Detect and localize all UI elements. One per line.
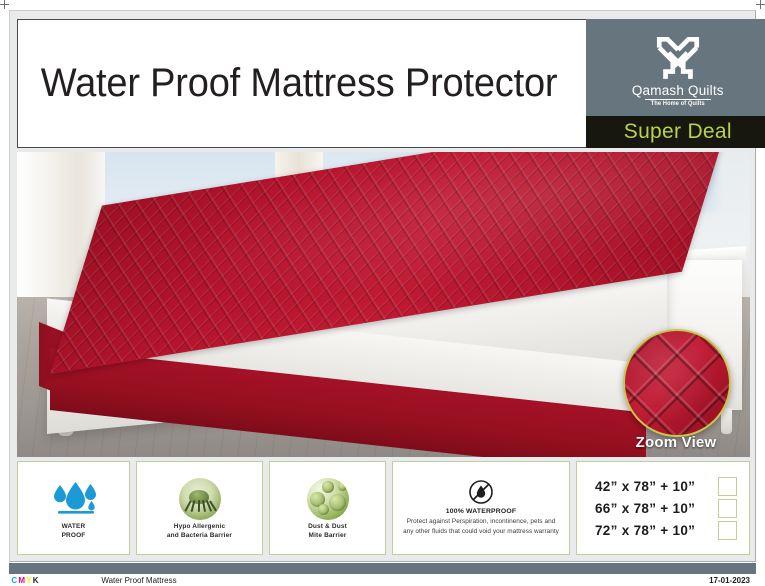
artwork-card: Water Proof Mattress Protector: [9, 10, 756, 562]
feature-label: Hypo Allergenic and Bacteria Barrier: [167, 522, 232, 541]
feature-label-line: PROOF: [62, 531, 86, 540]
feature-label-line: WATER: [62, 522, 86, 531]
size-option-checkbox[interactable]: [718, 499, 737, 518]
feature-strip: WATER PROOF: [17, 461, 750, 555]
size-option-row[interactable]: 42” x 78” + 10”: [589, 477, 737, 496]
brand-panel: Qamash Quilts The Home of Quilts Super D…: [586, 19, 765, 148]
size-option-label: 72” x 78” + 10”: [589, 523, 707, 538]
super-deal-banner: Super Deal: [586, 116, 765, 148]
artboard: Water Proof Mattress Protector: [0, 0, 765, 586]
no-water-drop-icon: [468, 479, 494, 505]
crop-mark-right-top: [756, 4, 765, 5]
zoom-quilt-pattern: [623, 329, 731, 437]
zoom-view-label: Zoom View: [623, 434, 729, 451]
footer-info-row: C M Y K Water Proof Mattress 17-01-2023: [9, 575, 756, 586]
title-panel: Water Proof Mattress Protector: [17, 19, 586, 148]
dust-spores-icon: [307, 476, 349, 522]
feature-dust-mite-barrier: Dust & Dust Mite Barrier: [269, 461, 386, 555]
size-option-label: 66” x 78” + 10”: [589, 501, 707, 516]
feature-label-line: and Bacteria Barrier: [167, 531, 232, 540]
feature-label-line: Dust & Dust: [308, 522, 347, 531]
hero-product-photo: Zoom View: [17, 152, 750, 457]
footer-date: 17-01-2023: [709, 576, 750, 585]
feature-water-proof: WATER PROOF: [17, 461, 130, 555]
super-deal-label: Super Deal: [624, 120, 732, 144]
footer: C M Y K Water Proof Mattress 17-01-2023: [0, 563, 765, 586]
size-option-row[interactable]: 72” x 78” + 10”: [589, 521, 737, 540]
feature-label: WATER PROOF: [62, 522, 86, 541]
cmyk-mark-m: M: [18, 576, 26, 585]
feature-hypo-allergenic: Hypo Allergenic and Bacteria Barrier: [136, 461, 263, 555]
feature-label-line: Mite Barrier: [308, 531, 347, 540]
footer-job-title: Water Proof Mattress: [101, 576, 176, 585]
feature-label: Dust & Dust Mite Barrier: [308, 522, 347, 541]
cmyk-color-marks: C M Y K: [11, 576, 39, 585]
waterproof-heading: 100% WATERPROOF: [446, 508, 516, 515]
brand-tagline: The Home of Quilts: [651, 101, 705, 108]
crop-mark-left-top: [0, 4, 9, 5]
size-options-panel: 42” x 78” + 10” 66” x 78” + 10” 72” x 78…: [576, 461, 750, 555]
size-option-row[interactable]: 66” x 78” + 10”: [589, 499, 737, 518]
page-title: Water Proof Mattress Protector: [18, 61, 557, 106]
zoom-view-circle: [623, 329, 731, 437]
waterproof-body-line: Protect against Perspiration, incontinen…: [407, 517, 556, 527]
feature-label-line: Hypo Allergenic: [167, 522, 232, 531]
dust-mite-icon: [179, 476, 221, 522]
size-option-checkbox[interactable]: [718, 521, 737, 540]
brand-block: Qamash Quilts The Home of Quilts: [586, 19, 765, 116]
size-option-checkbox[interactable]: [718, 477, 737, 496]
size-option-label: 42” x 78” + 10”: [589, 479, 707, 494]
waterproof-claim-panel: 100% WATERPROOF Protect against Perspira…: [392, 461, 570, 555]
interlocking-knot-logo-icon: [652, 32, 704, 82]
waterproof-body-line: any other fluids that could void your ma…: [403, 527, 559, 537]
brand-name: Qamash Quilts: [632, 84, 724, 98]
cmyk-mark-k: K: [32, 576, 39, 585]
water-drops-icon: [46, 476, 102, 522]
footer-color-band: [9, 563, 756, 574]
cmyk-mark-c: C: [11, 576, 18, 585]
header: Water Proof Mattress Protector: [17, 19, 750, 148]
